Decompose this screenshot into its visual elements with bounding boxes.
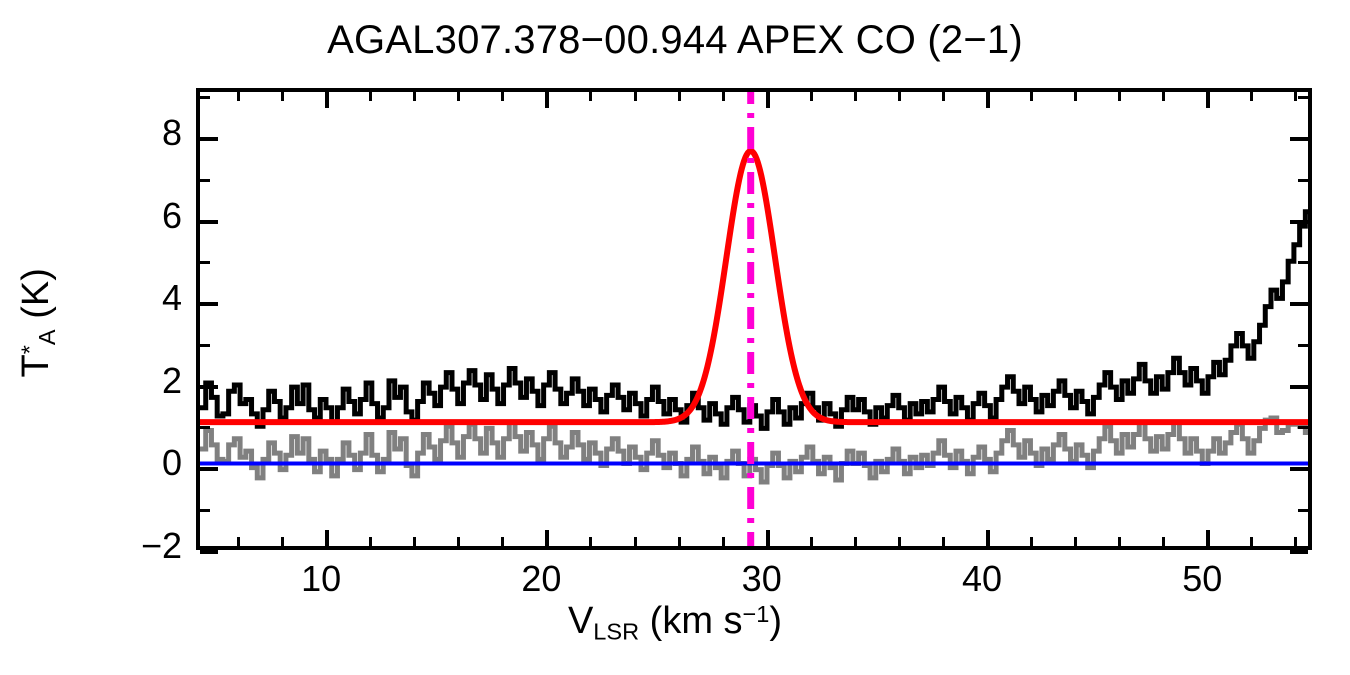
x-axis-tick bbox=[413, 92, 416, 101]
x-axis-tick bbox=[1206, 92, 1210, 108]
plot-canvas bbox=[200, 92, 1308, 546]
x-tick-label: 10 bbox=[301, 558, 341, 600]
x-axis-tick bbox=[1294, 537, 1297, 546]
x-axis-tick bbox=[1118, 92, 1121, 101]
x-axis-label-unit-open: (km s bbox=[639, 600, 742, 642]
x-axis-tick bbox=[1250, 92, 1253, 101]
x-axis-tick bbox=[325, 92, 329, 108]
x-axis-tick bbox=[1294, 92, 1297, 101]
y-axis-tick bbox=[1290, 467, 1308, 471]
x-tick-label: 30 bbox=[742, 558, 782, 600]
y-axis-tick bbox=[200, 344, 210, 347]
x-axis-tick bbox=[1030, 537, 1033, 546]
y-tick-label: 0 bbox=[162, 442, 182, 484]
x-axis-tick bbox=[898, 537, 901, 546]
x-axis-tick bbox=[634, 92, 637, 101]
x-axis-label-exponent: −1 bbox=[743, 601, 770, 627]
y-axis-tick bbox=[200, 467, 218, 471]
y-tick-label: 2 bbox=[162, 360, 182, 402]
x-axis-tick bbox=[1250, 537, 1253, 546]
x-axis-tick bbox=[1118, 537, 1121, 546]
x-axis-tick bbox=[810, 92, 813, 101]
x-axis-tick bbox=[722, 537, 725, 546]
y-tick-label: 8 bbox=[162, 112, 182, 154]
x-axis-tick bbox=[854, 92, 857, 101]
y-axis-tick bbox=[200, 220, 218, 224]
y-axis-label: T*A (K) bbox=[15, 113, 61, 533]
x-axis-tick bbox=[986, 92, 990, 108]
x-axis-label-sub: LSR bbox=[593, 619, 639, 645]
x-axis-tick bbox=[589, 92, 592, 101]
x-tick-label: 50 bbox=[1182, 558, 1222, 600]
y-axis-tick bbox=[1298, 261, 1308, 264]
y-axis-label-unit: (K) bbox=[15, 268, 57, 329]
x-tick-label: 40 bbox=[962, 558, 1002, 600]
x-axis-tick bbox=[678, 537, 681, 546]
x-axis-tick bbox=[722, 92, 725, 101]
y-axis-tick bbox=[1290, 550, 1308, 554]
y-axis-tick bbox=[1290, 385, 1308, 389]
y-axis-tick bbox=[1290, 137, 1308, 141]
y-axis-tick bbox=[1298, 509, 1308, 512]
y-axis-tick bbox=[1290, 220, 1308, 224]
x-axis-tick bbox=[1162, 537, 1165, 546]
y-axis-tick bbox=[200, 96, 210, 99]
x-axis-tick bbox=[1030, 92, 1033, 101]
x-axis-tick bbox=[942, 92, 945, 101]
y-tick-label: 4 bbox=[162, 277, 182, 319]
y-axis-label-main: T bbox=[15, 354, 57, 377]
x-axis-tick bbox=[766, 530, 770, 546]
chart-title: AGAL307.378−00.944 APEX CO (2−1) bbox=[0, 18, 1350, 63]
x-axis-tick bbox=[678, 92, 681, 101]
figure-root: AGAL307.378−00.944 APEX CO (2−1) 1020304… bbox=[0, 0, 1350, 675]
x-axis-tick bbox=[898, 92, 901, 101]
y-axis-tick bbox=[200, 261, 210, 264]
x-axis-tick bbox=[369, 537, 372, 546]
x-axis-tick bbox=[1162, 92, 1165, 101]
y-axis-tick bbox=[200, 509, 210, 512]
x-axis-tick bbox=[766, 92, 770, 108]
x-axis-tick bbox=[457, 92, 460, 101]
x-axis-tick bbox=[545, 530, 549, 546]
y-axis-tick bbox=[200, 302, 218, 306]
plot-frame bbox=[196, 88, 1312, 550]
y-axis-tick bbox=[200, 385, 218, 389]
y-axis-tick bbox=[200, 179, 210, 182]
x-axis-tick bbox=[237, 537, 240, 546]
x-axis-tick bbox=[810, 537, 813, 546]
x-axis-tick bbox=[237, 92, 240, 101]
x-axis-tick bbox=[1074, 92, 1077, 101]
x-axis-tick bbox=[1206, 530, 1210, 546]
y-axis-tick bbox=[1298, 426, 1308, 429]
x-axis-tick bbox=[281, 537, 284, 546]
y-axis-tick bbox=[1298, 344, 1308, 347]
x-axis-tick bbox=[281, 92, 284, 101]
x-tick-label: 20 bbox=[521, 558, 561, 600]
x-axis-tick bbox=[501, 92, 504, 101]
x-axis-label: VLSR (km s−1) bbox=[0, 600, 1350, 646]
x-axis-tick bbox=[589, 537, 592, 546]
spectrum-svg bbox=[200, 92, 1308, 546]
x-axis-tick bbox=[942, 537, 945, 546]
x-axis-label-unit-close: ) bbox=[769, 600, 782, 642]
x-axis-tick bbox=[369, 92, 372, 101]
x-axis-tick bbox=[501, 537, 504, 546]
y-axis-tick bbox=[1298, 96, 1308, 99]
y-axis-label-sub: A bbox=[34, 329, 60, 345]
y-axis-tick bbox=[1290, 302, 1308, 306]
x-axis-tick bbox=[986, 530, 990, 546]
y-axis-tick bbox=[1298, 179, 1308, 182]
x-axis-tick bbox=[457, 537, 460, 546]
y-axis-tick bbox=[200, 426, 210, 429]
y-tick-label: −2 bbox=[141, 525, 182, 567]
y-axis-tick bbox=[200, 137, 218, 141]
x-axis-tick bbox=[634, 537, 637, 546]
x-axis-label-main: V bbox=[568, 600, 593, 642]
y-axis-label-sup: * bbox=[17, 345, 43, 354]
x-axis-tick bbox=[854, 537, 857, 546]
y-axis-tick bbox=[200, 550, 218, 554]
x-axis-tick bbox=[413, 537, 416, 546]
x-axis-tick bbox=[1074, 537, 1077, 546]
x-axis-tick bbox=[545, 92, 549, 108]
x-axis-tick bbox=[325, 530, 329, 546]
y-tick-label: 6 bbox=[162, 195, 182, 237]
